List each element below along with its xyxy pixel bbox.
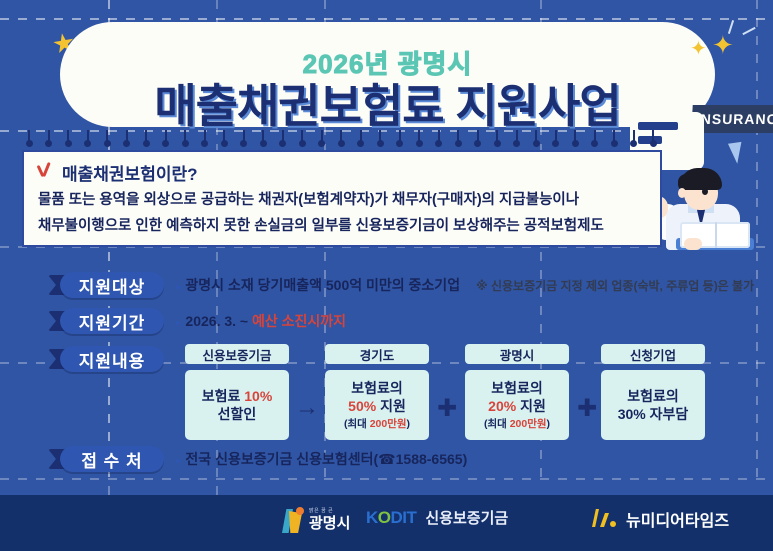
kodit-it: DIT bbox=[391, 508, 417, 527]
card-line-2: 30% 자부담 bbox=[618, 405, 689, 423]
character-ear bbox=[678, 188, 686, 198]
support-target-note: ※ 신용보증기금 지정 제외 업종(숙박, 주류업 등)은 불가 bbox=[476, 279, 754, 293]
text-support-period: ▸ 2026. 3. ~ 예산 소진시까지 bbox=[176, 311, 346, 331]
definition-heading: 매출채권보험이란? bbox=[62, 160, 198, 185]
pin-icon bbox=[243, 130, 245, 141]
pin-icon bbox=[574, 130, 576, 141]
card-sub: (최대 200만원) bbox=[344, 418, 410, 432]
card-line-1: 보험료의 bbox=[491, 379, 543, 397]
definition-line-2: 채무불이행으로 인한 예측하지 못한 손실금의 일부를 신용보증기금이 보상해주… bbox=[38, 214, 604, 235]
footer-logos: 밝은 꿈 큰 광명시 KODIT 신용보증기금 뉴미디어타임즈 bbox=[0, 495, 773, 551]
card-sub-text: (최대 bbox=[344, 418, 370, 430]
pin-icon bbox=[184, 130, 186, 141]
card-sub-highlight: 200만원 bbox=[510, 418, 547, 430]
pin-icon bbox=[652, 130, 654, 141]
support-target-value: 광명시 소재 당기매출액 500억 미만의 중소기업 bbox=[185, 277, 460, 293]
bullet-icon: ▸ bbox=[176, 317, 182, 329]
application-desk-value: 전국 신용보증기금 신용보험센터(☎1588-6565) bbox=[185, 451, 467, 467]
newmediatimes-mark-icon bbox=[592, 509, 616, 529]
pin-icon bbox=[516, 130, 518, 141]
card-body: 보험료의 30% 자부담 bbox=[601, 370, 705, 440]
card-sub-text: (최대 bbox=[484, 418, 510, 430]
sparkle-icon: ✦ bbox=[712, 30, 734, 61]
card-sub-tail: ) bbox=[407, 418, 411, 430]
pin-icon bbox=[48, 130, 50, 141]
card-body: 보험료 10% 선할인 bbox=[185, 370, 289, 440]
card-body: 보험료의 20% 지원 (최대 200만원) bbox=[465, 370, 569, 440]
grid-hline bbox=[0, 18, 773, 20]
pin-icon bbox=[633, 130, 635, 141]
character-hair bbox=[680, 168, 722, 190]
bullet-icon: ▸ bbox=[176, 455, 182, 467]
pin-icon bbox=[126, 130, 128, 141]
pin-icon bbox=[477, 130, 479, 141]
support-breakdown-cards: 신용보증기금 보험료 10% 선할인 → 경기도 보험료의 50% 지원 (최대… bbox=[185, 344, 705, 440]
card-line-2-text: 지원 bbox=[516, 398, 546, 414]
text-application-desk: ▸ 전국 신용보증기금 신용보험센터(☎1588-6565) bbox=[176, 449, 467, 469]
card-sub-tail: ) bbox=[547, 418, 551, 430]
card-gwangmyeong: 광명시 보험료의 20% 지원 (최대 200만원) bbox=[465, 344, 569, 440]
card-line-1: 보험료의 bbox=[351, 379, 403, 397]
pin-icon bbox=[535, 130, 537, 141]
check-icon bbox=[38, 163, 54, 179]
pin-icon bbox=[106, 130, 108, 141]
pin-icon bbox=[301, 130, 303, 141]
pin-icon bbox=[555, 130, 557, 141]
card-caption: 광명시 bbox=[465, 344, 569, 364]
pin-icon bbox=[28, 130, 30, 141]
pin-icon bbox=[457, 130, 459, 141]
bullet-icon: ▸ bbox=[176, 281, 182, 293]
card-line-2: 선할인 bbox=[218, 405, 257, 423]
card-line-1: 보험료의 bbox=[627, 387, 679, 405]
character-eye bbox=[702, 188, 708, 195]
operator-arrow-icon: → bbox=[293, 394, 321, 422]
gwangmyeong-mark-icon bbox=[282, 507, 304, 533]
pin-icon bbox=[67, 130, 69, 141]
label-support-period: 지원기간 bbox=[60, 308, 164, 334]
label-application-desk: 접 수 처 bbox=[60, 446, 164, 472]
card-sub: (최대 200만원) bbox=[484, 418, 550, 432]
pin-icon bbox=[496, 130, 498, 141]
card-line-1-text: 보험료 bbox=[202, 388, 245, 404]
character-hand bbox=[684, 238, 702, 250]
pin-icon bbox=[262, 130, 264, 141]
support-period-highlight: 예산 소진시까지 bbox=[252, 313, 346, 329]
text-support-target: ▸ 광명시 소재 당기매출액 500억 미만의 중소기업 ※ 신용보증기금 지정… bbox=[176, 275, 754, 295]
pin-icon bbox=[223, 130, 225, 141]
card-line-2: 20% 지원 bbox=[488, 397, 546, 415]
label-support-content: 지원내용 bbox=[60, 346, 164, 372]
card-line-2-highlight: 20% bbox=[488, 398, 516, 414]
card-line-2: 50% 지원 bbox=[348, 397, 406, 415]
card-line-1-highlight: 10% bbox=[244, 388, 272, 404]
label-support-target: 지원대상 bbox=[60, 272, 164, 298]
pin-icon bbox=[418, 130, 420, 141]
title-panel: 2026년 광명시 매출채권보험료 지원사업 bbox=[60, 22, 715, 127]
kodit-o: O bbox=[378, 508, 391, 527]
card-caption: 신용보증기금 bbox=[185, 344, 289, 364]
kodit-k: K bbox=[366, 508, 378, 527]
definition-line-1: 물품 또는 용역을 외상으로 공급하는 채권자(보험계약자)가 채무자(구매자)… bbox=[38, 188, 579, 209]
pin-icon bbox=[340, 130, 342, 141]
logo-newmediatimes: 뉴미디어타임즈 bbox=[592, 507, 729, 531]
kodit-mark-icon: KODIT bbox=[366, 508, 416, 528]
pin-icon bbox=[165, 130, 167, 141]
pin-icon bbox=[321, 130, 323, 141]
pin-icon bbox=[399, 130, 401, 141]
card-line-1: 보험료 10% bbox=[202, 387, 273, 405]
operator-plus-icon: ✚ bbox=[433, 394, 461, 423]
pin-icon bbox=[204, 130, 206, 141]
logo-gwangmyeong: 밝은 꿈 큰 광명시 bbox=[282, 507, 350, 533]
pin-strip-decoration bbox=[22, 130, 662, 146]
kodit-name: 신용보증기금 bbox=[425, 507, 508, 528]
definition-box: 매출채권보험이란? 물품 또는 용역을 외상으로 공급하는 채권자(보험계약자)… bbox=[22, 150, 662, 247]
poster-root: ★ ✦ 2026년 광명시 매출채권보험료 지원사업 ✦ ✦ INSURANCE bbox=[0, 0, 773, 551]
pin-icon bbox=[613, 130, 615, 141]
newmediatimes-name: 뉴미디어타임즈 bbox=[626, 507, 729, 531]
pin-icon bbox=[438, 130, 440, 141]
pin-icon bbox=[360, 130, 362, 141]
card-line-2-text: 지원 bbox=[376, 398, 406, 414]
card-caption: 신청기업 bbox=[601, 344, 705, 364]
pin-icon bbox=[282, 130, 284, 141]
card-applicant: 신청기업 보험료의 30% 자부담 bbox=[601, 344, 705, 440]
card-body: 보험료의 50% 지원 (최대 200만원) bbox=[325, 370, 429, 440]
grid-hline bbox=[0, 478, 773, 480]
pin-icon bbox=[145, 130, 147, 141]
card-line-2-highlight: 50% bbox=[348, 398, 376, 414]
card-kodit: 신용보증기금 보험료 10% 선할인 bbox=[185, 344, 289, 440]
support-period-value: 2026. 3. ~ bbox=[185, 313, 252, 329]
card-caption: 경기도 bbox=[325, 344, 429, 364]
pin-icon bbox=[87, 130, 89, 141]
cursor-arrow-icon bbox=[728, 138, 749, 163]
speech-line bbox=[638, 122, 678, 130]
pin-icon bbox=[594, 130, 596, 141]
gwangmyeong-tagline: 밝은 꿈 큰 bbox=[309, 509, 350, 514]
footer-bar: 밝은 꿈 큰 광명시 KODIT 신용보증기금 뉴미디어타임즈 bbox=[0, 495, 773, 551]
gwangmyeong-wordmark: 밝은 꿈 큰 광명시 bbox=[309, 509, 350, 531]
gwangmyeong-name: 광명시 bbox=[309, 516, 350, 531]
sparkle-icon: ✦ bbox=[690, 36, 707, 61]
card-sub-highlight: 200만원 bbox=[370, 418, 407, 430]
pin-icon bbox=[379, 130, 381, 141]
operator-plus-icon: ✚ bbox=[573, 394, 601, 423]
card-gyeonggi: 경기도 보험료의 50% 지원 (최대 200만원) bbox=[325, 344, 429, 440]
page-title: 매출채권보험료 지원사업 bbox=[60, 70, 715, 136]
logo-kodit: KODIT 신용보증기금 bbox=[366, 507, 508, 528]
